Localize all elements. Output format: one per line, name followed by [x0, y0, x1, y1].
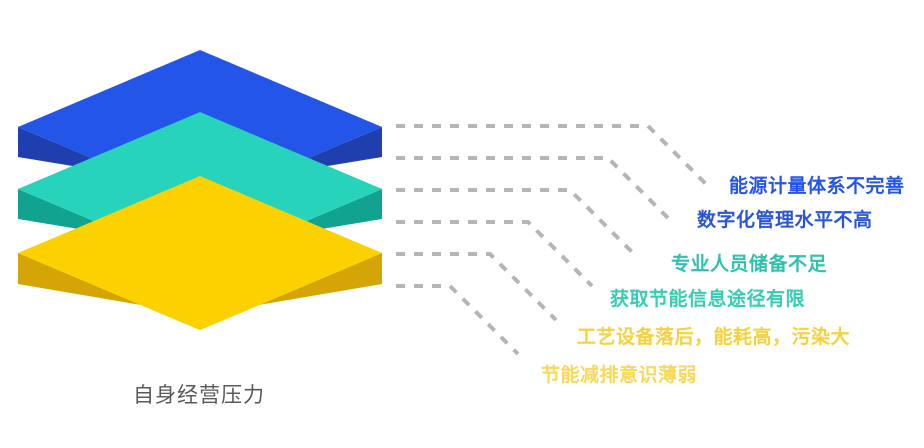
- issue-energy-metering: 能源计量体系不完善: [729, 177, 905, 196]
- issue-label-group: 能源计量体系不完善数字化管理水平不高专业人员储备不足获取节能信息途径有限工艺设备…: [0, 0, 924, 448]
- issue-information-channels: 获取节能信息途径有限: [610, 290, 805, 309]
- infographic-canvas: 能源计量体系不完善数字化管理水平不高专业人员储备不足获取节能信息途径有限工艺设备…: [0, 0, 924, 448]
- issue-professional-staff: 专业人员储备不足: [671, 255, 827, 274]
- issue-weak-awareness: 节能减排意识薄弱: [541, 366, 697, 385]
- stack-caption: 自身经营压力: [133, 385, 265, 406]
- issue-outdated-equipment: 工艺设备落后，能耗高，污染大: [577, 328, 850, 347]
- issue-digital-management: 数字化管理水平不高: [697, 211, 873, 230]
